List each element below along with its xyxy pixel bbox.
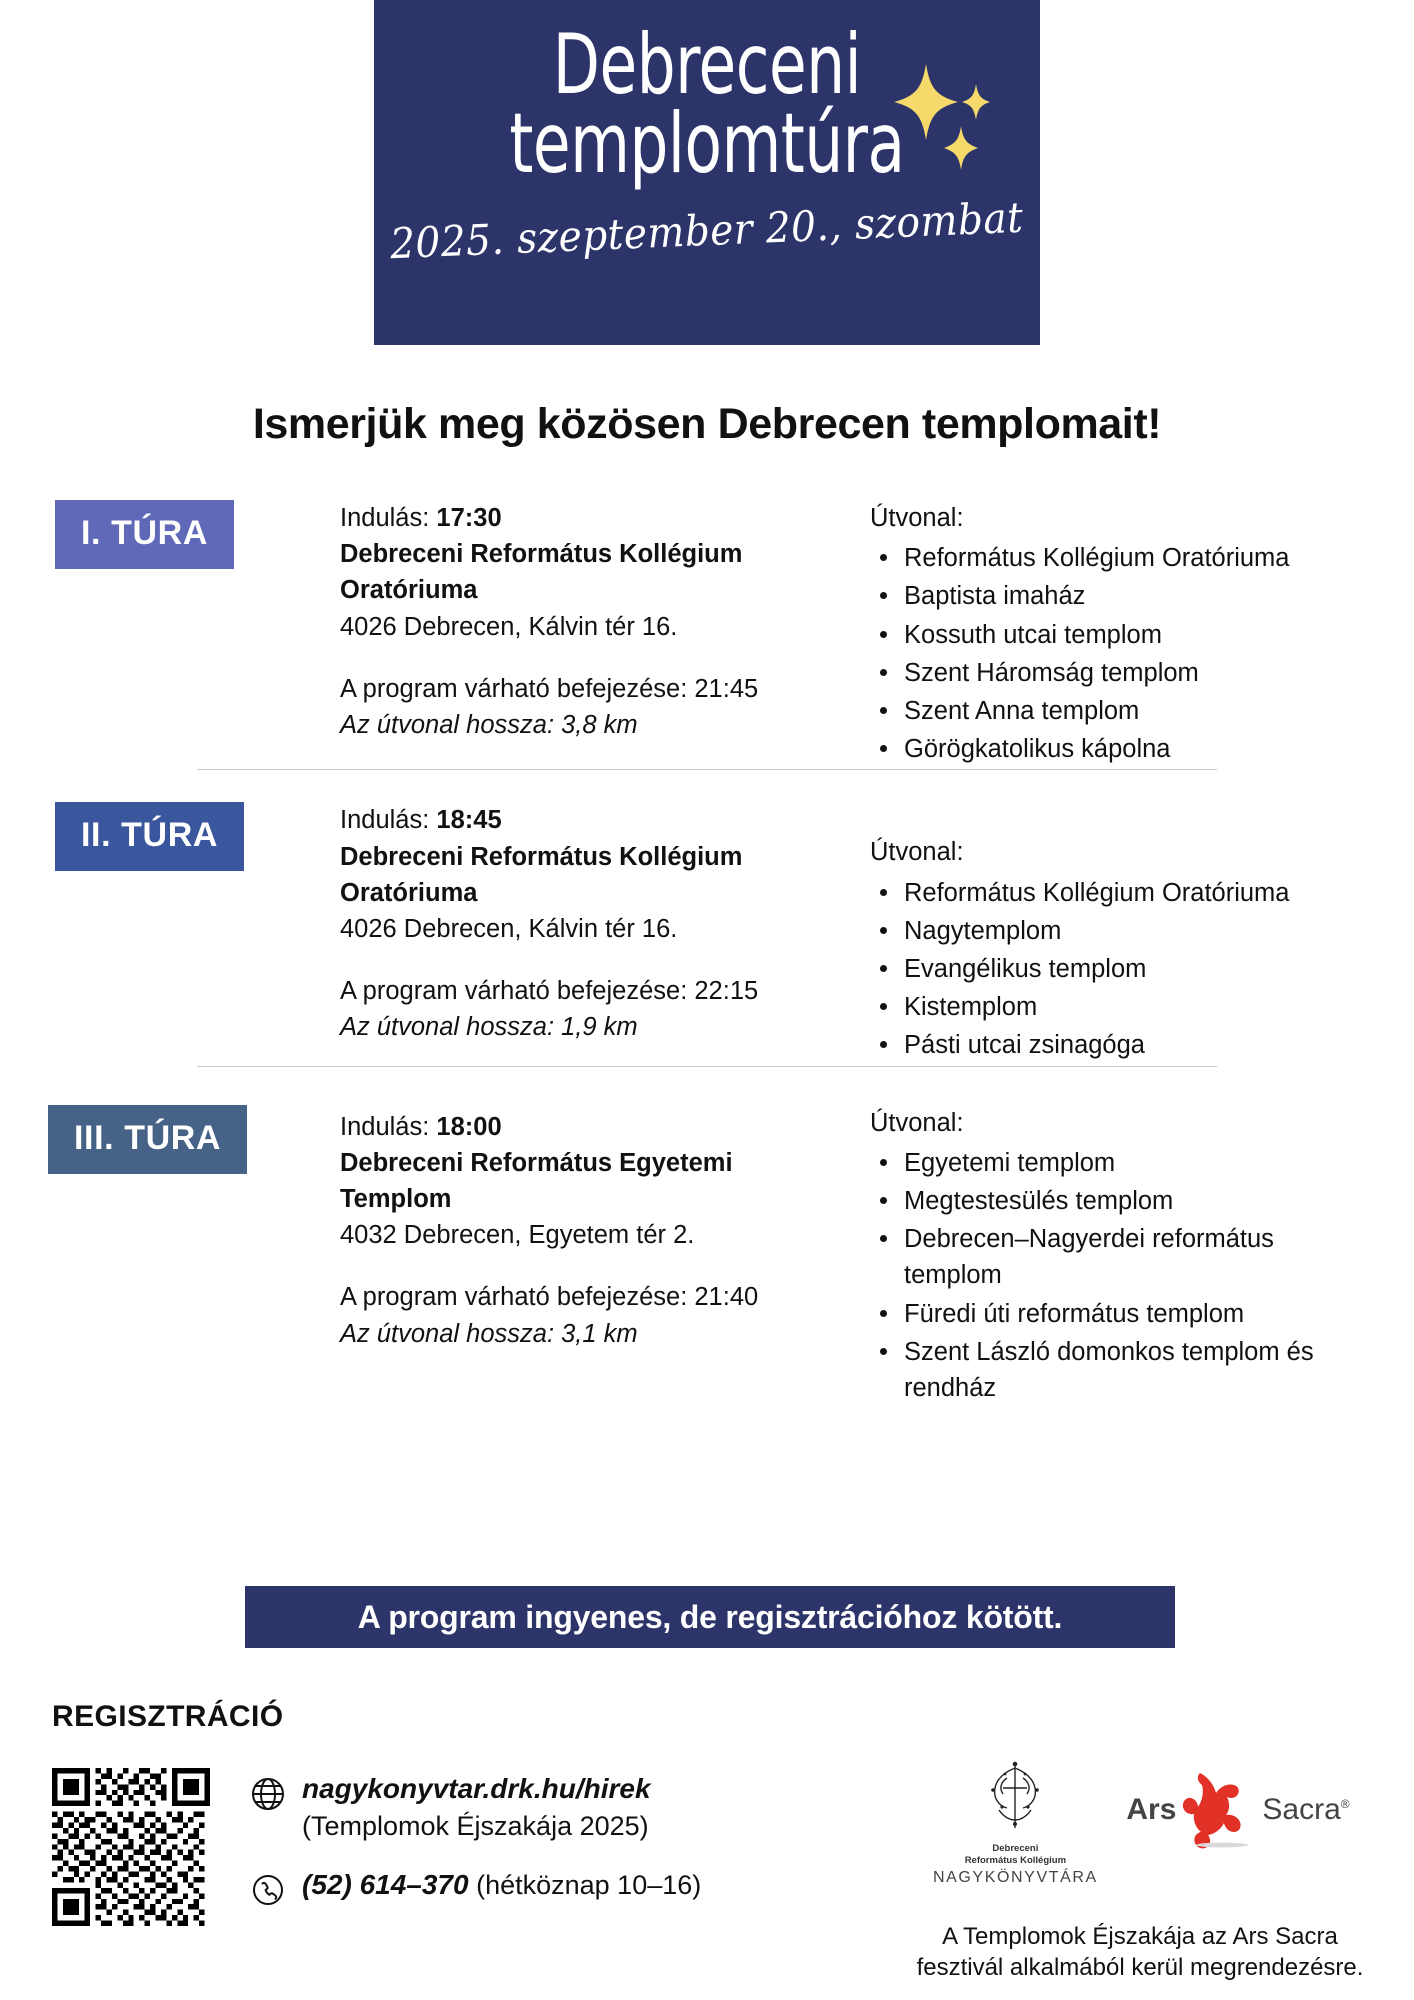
- spacer: [340, 1253, 850, 1279]
- tour-length-1: Az útvonal hossza: 3,8 km: [340, 707, 850, 743]
- tour-badge-col-2: II. TÚRA: [0, 802, 340, 871]
- tour-venue-2: Debreceni Református Kollégium Oratórium…: [340, 839, 850, 911]
- tour-address-3: 4032 Debrecen, Egyetem tér 2.: [340, 1217, 850, 1253]
- contact-block: nagykonyvtar.drk.hu/hirek (Templomok Éjs…: [250, 1770, 810, 1923]
- list-item: Evangélikus templom: [870, 951, 1370, 987]
- list-item: Kossuth utcai templom: [870, 617, 1370, 653]
- spacer: [340, 645, 850, 671]
- ars-sacra-logo: Ars Sacra®: [1126, 1767, 1349, 1887]
- drk-logo-line2: Református Kollégium: [930, 1855, 1100, 1867]
- tour-route-3: Útvonal: Egyetemi templom Megtestesülés …: [870, 1105, 1370, 1409]
- registration-required-banner: A program ingyenes, de regisztrációhoz k…: [245, 1586, 1175, 1648]
- tours-section: I. TÚRA Indulás: 17:30 Debreceni Reformá…: [0, 500, 1414, 1408]
- spacer: [340, 947, 850, 973]
- website-note: (Templomok Éjszakája 2025): [302, 1808, 651, 1844]
- sacra-word-text: Sacra: [1262, 1793, 1340, 1826]
- header-banner: Debreceni templomtúra 2025. szeptember 2…: [374, 0, 1040, 345]
- festival-note: A Templomok Éjszakája az Ars Sacra feszt…: [880, 1922, 1400, 1983]
- tour-badge-1: I. TÚRA: [55, 500, 234, 569]
- tour-end-2: A program várható befejezése: 22:15: [340, 973, 850, 1009]
- tour-details-3: Indulás: 18:00 Debreceni Református Egye…: [340, 1105, 870, 1352]
- tour-start-time-2: 18:45: [436, 806, 501, 834]
- list-item: Nagytemplom: [870, 913, 1370, 949]
- festival-note-line1: A Templomok Éjszakája az Ars Sacra: [880, 1922, 1400, 1953]
- tour-address-1: 4026 Debrecen, Kálvin tér 16.: [340, 609, 850, 645]
- page-title: Ismerjük meg közösen Debrecen templomait…: [0, 400, 1414, 449]
- logo-row: Debreceni Református Kollégium NAGYKÖNYV…: [920, 1758, 1360, 1887]
- tour-details-2: Indulás: 18:45 Debreceni Református Koll…: [340, 802, 870, 1045]
- tour-venue-3: Debreceni Református Egyetemi Templom: [340, 1145, 850, 1217]
- tour-end-1: A program várható befejezése: 21:45: [340, 671, 850, 707]
- list-item: Debrecen–Nagyerdei református templom: [870, 1221, 1370, 1293]
- tour-start-2: Indulás: 18:45: [340, 802, 850, 838]
- drk-library-logo: Debreceni Református Kollégium NAGYKÖNYV…: [930, 1758, 1100, 1887]
- festival-note-line2: fesztivál alkalmából kerül megrendezésre…: [880, 1953, 1400, 1984]
- phone-text: (52) 614–370 (hétköznap 10–16): [302, 1866, 701, 1904]
- tour-badge-3: III. TÚRA: [48, 1105, 247, 1174]
- tour-block-3: III. TÚRA Indulás: 18:00 Debreceni Refor…: [0, 1067, 1414, 1409]
- website-row[interactable]: nagykonyvtar.drk.hu/hirek (Templomok Éjs…: [250, 1770, 810, 1844]
- tour-length-2: Az útvonal hossza: 1,9 km: [340, 1009, 850, 1045]
- tour-route-1: Útvonal: Református Kollégium Oratóriuma…: [870, 500, 1370, 769]
- sacra-word: Sacra®: [1262, 1793, 1349, 1827]
- list-item: Kistemplom: [870, 989, 1370, 1025]
- tour-badge-col-1: I. TÚRA: [0, 500, 340, 569]
- tour-start-label-3: Indulás:: [340, 1113, 436, 1141]
- ars-sacra-angel-icon: [1180, 1767, 1258, 1853]
- route-label-1: Útvonal:: [870, 500, 1370, 536]
- poster-root: Debreceni templomtúra 2025. szeptember 2…: [0, 0, 1414, 2000]
- list-item: Szent Háromság templom: [870, 655, 1370, 691]
- route-label-2: Útvonal:: [870, 834, 1370, 870]
- website-text: nagykonyvtar.drk.hu/hirek (Templomok Éjs…: [302, 1770, 651, 1844]
- sparkles-icon: [888, 54, 998, 174]
- tour-length-3: Az útvonal hossza: 3,1 km: [340, 1316, 850, 1352]
- event-date: 2025. szeptember 20., szombat: [389, 192, 1024, 267]
- list-item: Görögkatolikus kápolna: [870, 731, 1370, 767]
- route-list-2: Református Kollégium Oratóriuma Nagytemp…: [870, 875, 1370, 1064]
- qr-code[interactable]: [52, 1768, 210, 1926]
- tour-start-label-1: Indulás:: [340, 504, 436, 532]
- phone-hours: (hétköznap 10–16): [476, 1870, 701, 1900]
- drk-logo-line3: NAGYKÖNYVTÁRA: [930, 1869, 1100, 1887]
- tour-start-3: Indulás: 18:00: [340, 1109, 850, 1145]
- route-list-1: Református Kollégium Oratóriuma Baptista…: [870, 540, 1370, 767]
- tour-badge-col-3: III. TÚRA: [0, 1105, 340, 1174]
- drk-logo-line1: Debreceni: [930, 1843, 1100, 1855]
- list-item: Református Kollégium Oratóriuma: [870, 540, 1370, 576]
- list-item: Füredi úti református templom: [870, 1296, 1370, 1332]
- tour-badge-2: II. TÚRA: [55, 802, 244, 871]
- list-item: Szent László domonkos templom és rendház: [870, 1334, 1370, 1406]
- tour-start-time-3: 18:00: [436, 1113, 501, 1141]
- globe-icon: [250, 1770, 302, 1817]
- list-item: Baptista imaház: [870, 578, 1370, 614]
- tour-address-2: 4026 Debrecen, Kálvin tér 16.: [340, 911, 850, 947]
- list-item: Egyetemi templom: [870, 1145, 1370, 1181]
- list-item: Szent Anna templom: [870, 693, 1370, 729]
- tour-venue-1: Debreceni Református Kollégium Oratórium…: [340, 536, 850, 608]
- website-url[interactable]: nagykonyvtar.drk.hu/hirek: [302, 1770, 651, 1808]
- tour-block-1: I. TÚRA Indulás: 17:30 Debreceni Reformá…: [0, 500, 1414, 769]
- tour-details-1: Indulás: 17:30 Debreceni Református Koll…: [340, 500, 870, 743]
- drk-crest-icon: [969, 1758, 1061, 1838]
- list-item: Megtestesülés templom: [870, 1183, 1370, 1219]
- registered-mark: ®: [1341, 1797, 1350, 1811]
- tour-block-2: II. TÚRA Indulás: 18:45 Debreceni Reform…: [0, 770, 1414, 1065]
- route-list-3: Egyetemi templom Megtestesülés templom D…: [870, 1145, 1370, 1406]
- tour-start-time-1: 17:30: [436, 504, 501, 532]
- list-item: Református Kollégium Oratóriuma: [870, 875, 1370, 911]
- phone-number[interactable]: (52) 614–370: [302, 1869, 469, 1900]
- title-wrap: Debreceni templomtúra: [374, 26, 1040, 184]
- registration-heading: REGISZTRÁCIÓ: [52, 1700, 283, 1734]
- tour-start-1: Indulás: 17:30: [340, 500, 850, 536]
- phone-row[interactable]: (52) 614–370 (hétköznap 10–16): [250, 1866, 810, 1913]
- tour-end-3: A program várható befejezése: 21:40: [340, 1279, 850, 1315]
- phone-icon: [250, 1866, 302, 1913]
- tour-route-2: Útvonal: Református Kollégium Oratóriuma…: [870, 802, 1370, 1065]
- tour-start-label-2: Indulás:: [340, 806, 436, 834]
- ars-word: Ars: [1126, 1793, 1176, 1827]
- list-item: Pásti utcai zsinagóga: [870, 1027, 1370, 1063]
- route-label-3: Útvonal:: [870, 1105, 1370, 1141]
